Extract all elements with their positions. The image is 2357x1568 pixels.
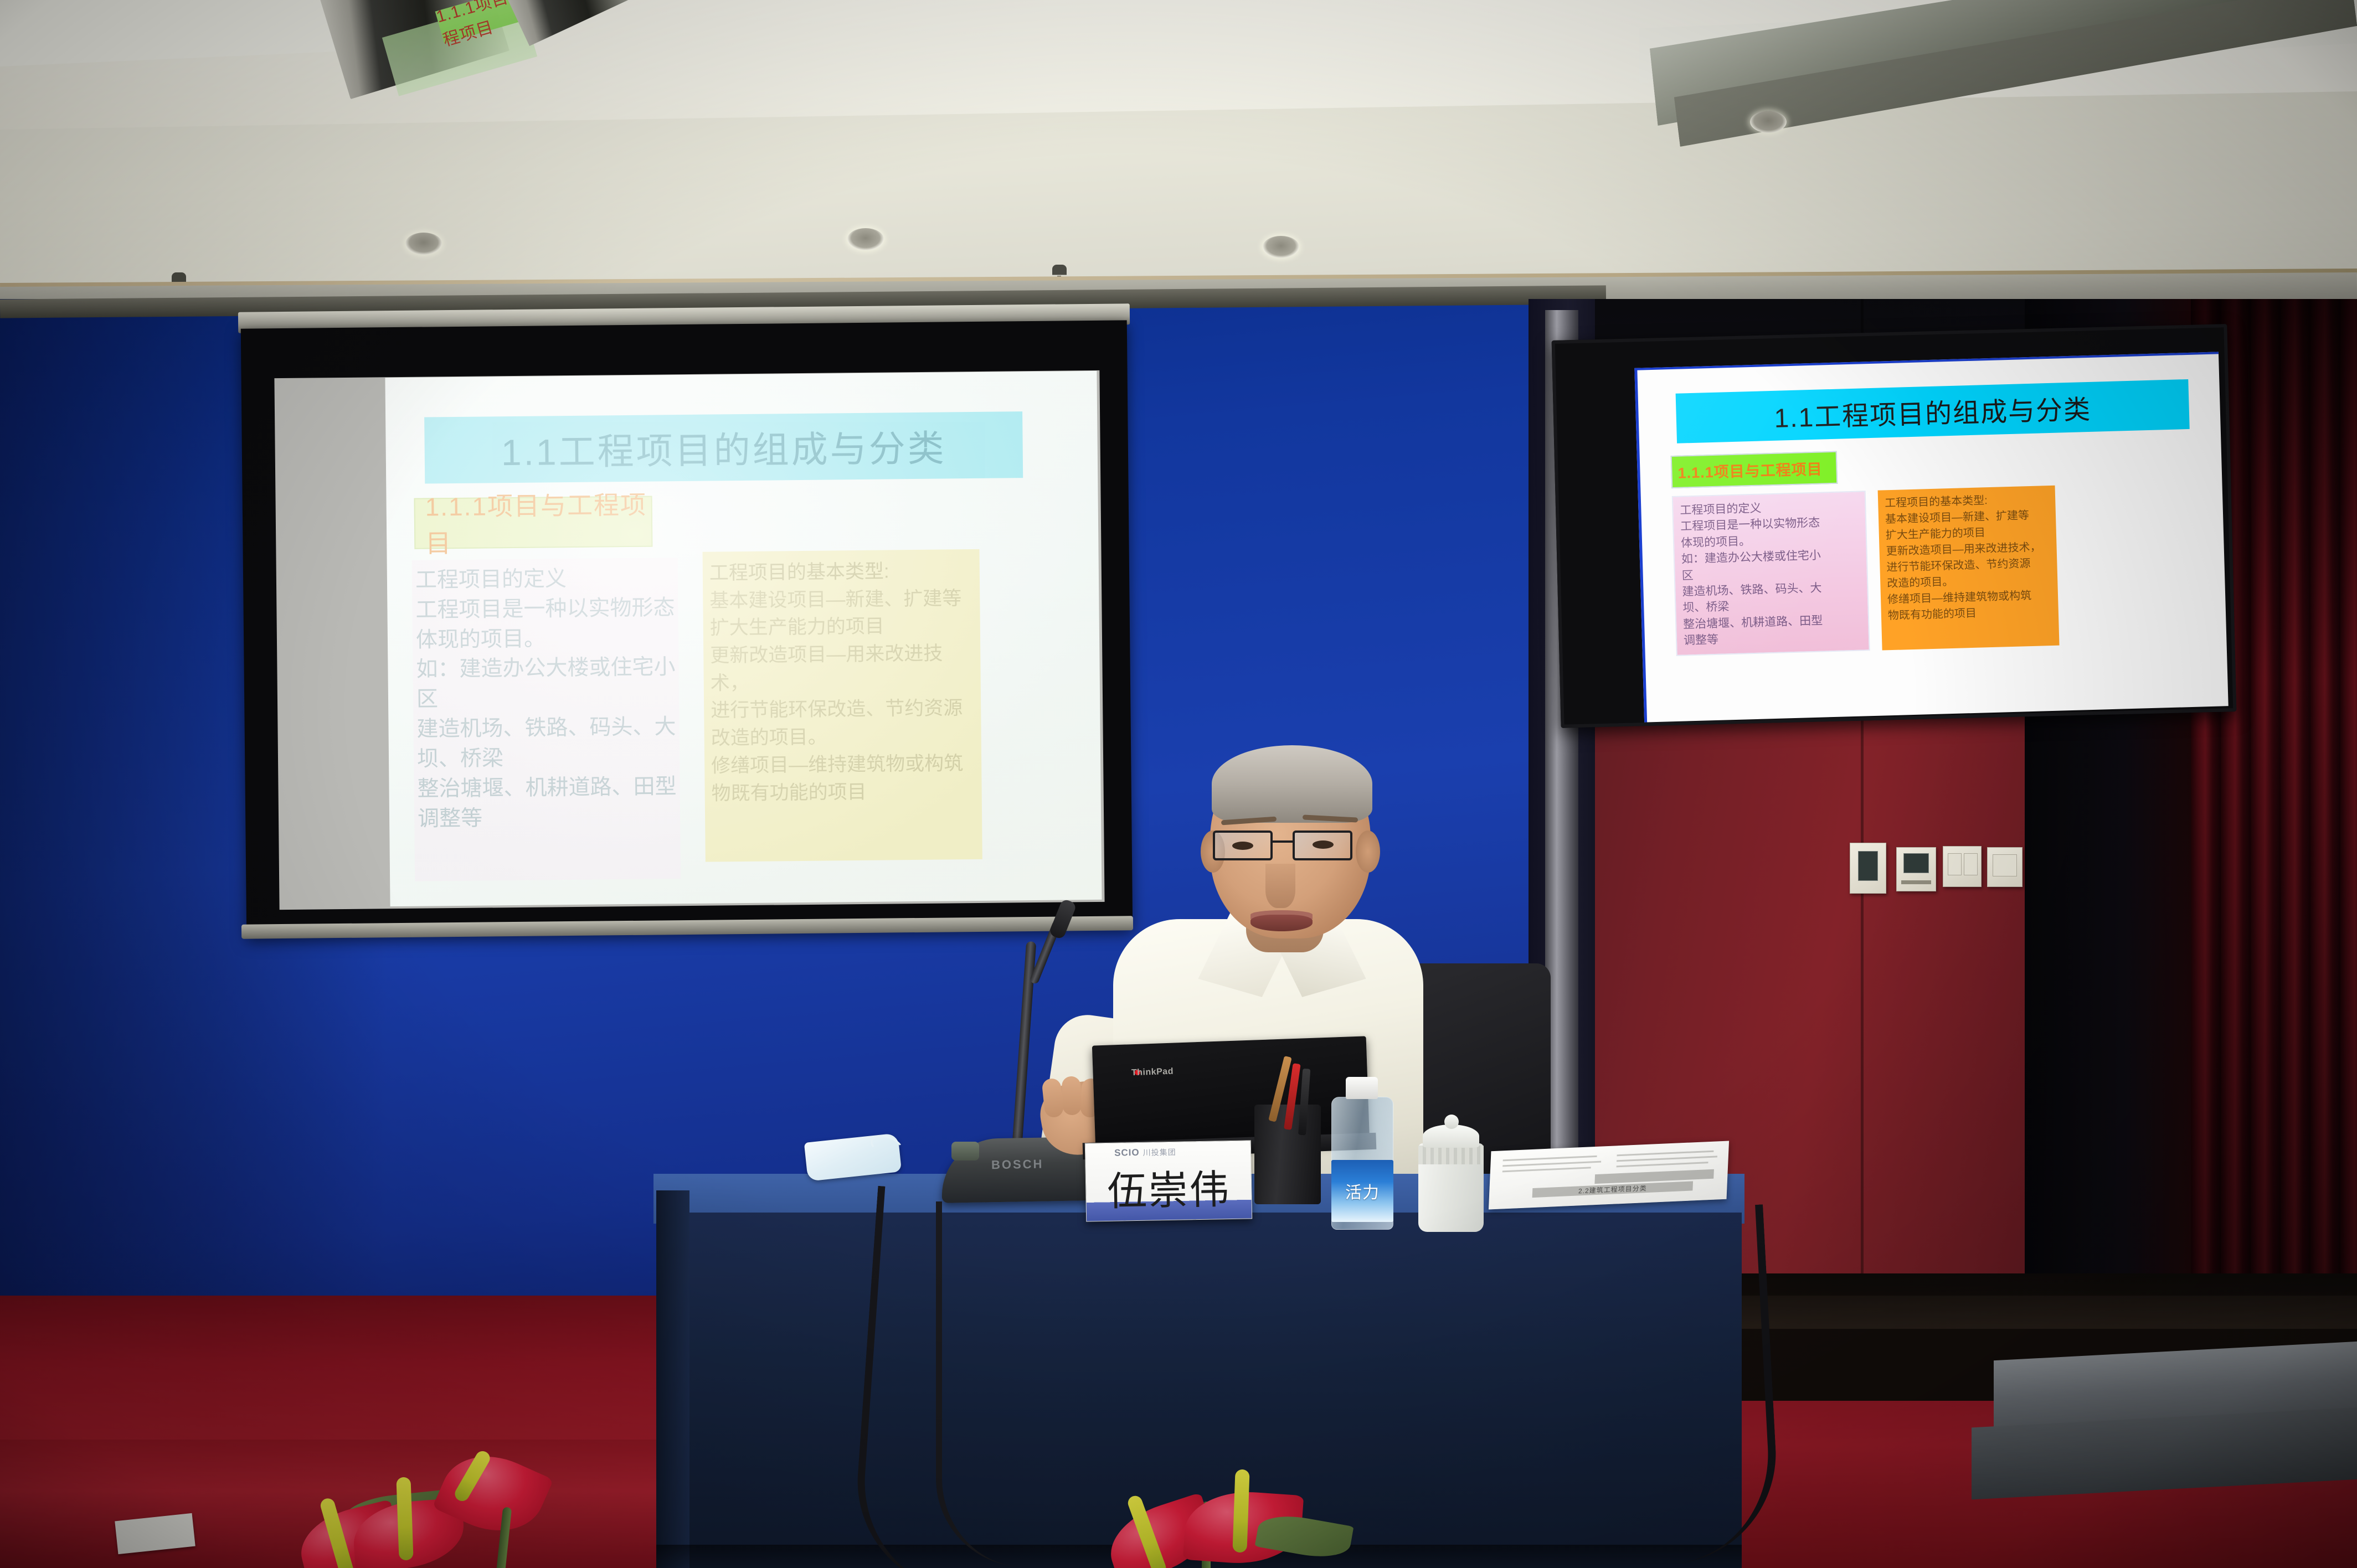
pj-r2: 扩大生产能力的项目 bbox=[710, 612, 974, 642]
pj-r3: 更新改造项目—用来改进技术， bbox=[710, 639, 974, 697]
pj-r6: 修缮项目—维持建筑物或构筑 bbox=[711, 750, 975, 780]
lcd-slide-content: 1.1工程项目的组成与分类 1.1.1项目与工程项目 工程项目的定义 工程项目是… bbox=[1637, 354, 2228, 722]
ac-panel-display bbox=[1903, 853, 1929, 873]
name-plate-name: 伍崇伟 bbox=[1085, 1156, 1252, 1217]
lecture-room-photo: 1.1.1项目与工程项目 1.1工程项目的组成与分类 1.1.1项目与工程项目 … bbox=[0, 0, 2357, 1568]
downlight-1 bbox=[405, 233, 442, 255]
handout-line-6 bbox=[1617, 1162, 1708, 1167]
water-bottle-label: 活力 bbox=[1331, 1160, 1393, 1222]
projected-slide-subtitle: 1.1.1项目与工程项目 bbox=[414, 496, 653, 549]
handout-highlight-bar bbox=[1594, 1169, 1714, 1184]
water-bottle-cap bbox=[1346, 1077, 1378, 1099]
microphone-brand-label: BOSCH bbox=[991, 1157, 1069, 1172]
presenter-nose bbox=[1265, 864, 1295, 908]
pj-r4: 进行节能环保改造、节约资源 bbox=[711, 694, 974, 724]
pj-r5: 改造的项目。 bbox=[711, 722, 974, 752]
lcd-slide-right-box: 工程项目的基本类型: 基本建设项目—新建、扩建等 扩大生产能力的项目 更新改造项… bbox=[1878, 486, 2060, 650]
tea-cup-pattern-band bbox=[1418, 1146, 1484, 1164]
pj-l6: 坝、桥梁 bbox=[417, 742, 676, 774]
pj-r0: 工程项目的基本类型: bbox=[709, 557, 973, 587]
downlight-4 bbox=[1750, 111, 1787, 133]
microphone-talk-button[interactable] bbox=[951, 1142, 979, 1160]
laptop-screen-lid bbox=[1092, 1036, 1370, 1151]
presenter-finger-2 bbox=[1062, 1076, 1082, 1115]
thinkpad-logo-text: ThinkPad bbox=[1131, 1067, 1172, 1080]
printed-handout: 2.2建筑工程项目分类 bbox=[1489, 1141, 1729, 1209]
presenter-mouth bbox=[1250, 915, 1313, 931]
handout-line-1 bbox=[1503, 1156, 1597, 1161]
lcd-slide-columns: 工程项目的定义 工程项目是一种以实物形态 体现的项目。 如：建造办公大楼或住宅小… bbox=[1672, 481, 2211, 656]
anthurium-flowers-left bbox=[233, 1424, 576, 1568]
light-switch-single[interactable] bbox=[1987, 847, 2023, 887]
pj-r1: 基本建设项目—新建、扩建等 bbox=[709, 585, 973, 615]
light-switch-double[interactable] bbox=[1943, 846, 1982, 887]
water-bottle: 活力 bbox=[1329, 1077, 1396, 1229]
presenter-eye-left bbox=[1232, 842, 1253, 850]
ac-control-panel[interactable] bbox=[1896, 847, 1936, 891]
handout-line-5 bbox=[1617, 1156, 1717, 1162]
projected-slide-right-box: 工程项目的基本类型: 基本建设项目—新建、扩建等 扩大生产能力的项目 更新改造项… bbox=[702, 549, 982, 862]
glasses-bridge bbox=[1273, 840, 1293, 843]
downlight-3 bbox=[1263, 236, 1299, 258]
handout-line-2 bbox=[1502, 1161, 1601, 1167]
lcd-slide-title: 1.1工程项目的组成与分类 bbox=[1676, 379, 2190, 443]
handout-caption-bar: 2.2建筑工程项目分类 bbox=[1532, 1181, 1693, 1198]
flower-spadix-5 bbox=[1232, 1469, 1249, 1553]
cable-left-2 bbox=[936, 1201, 1047, 1567]
handout-line-4 bbox=[1617, 1151, 1713, 1157]
light-switch-double-rocker-left[interactable] bbox=[1948, 853, 1962, 875]
pj-l3: 如：建造办公大楼或住宅小 bbox=[416, 653, 675, 685]
thermostat-display bbox=[1858, 851, 1878, 881]
tea-cup bbox=[1415, 1105, 1487, 1232]
tea-cup-lid-knob bbox=[1444, 1115, 1459, 1129]
projected-slide-left-box: 工程项目的定义 工程项目是一种以实物形态 体现的项目。 如：建造办公大楼或住宅小… bbox=[412, 558, 681, 881]
light-switch-double-rocker-right[interactable] bbox=[1964, 853, 1978, 875]
pj-l8: 调整等 bbox=[418, 802, 677, 834]
pj-l7: 整治塘堰、机耕道路、田型 bbox=[417, 772, 676, 804]
table-side-panel bbox=[656, 1190, 689, 1568]
anthurium-flowers-center bbox=[1074, 1441, 1373, 1568]
flower-spadix-2 bbox=[396, 1477, 413, 1561]
pj-l1: 工程项目是一种以实物形态 bbox=[415, 593, 675, 625]
projected-slide-title: 1.1工程项目的组成与分类 bbox=[424, 411, 1023, 483]
pj-l2: 体现的项目。 bbox=[416, 623, 675, 655]
name-plate: SCIO 川投集团 伍崇伟 bbox=[1085, 1140, 1252, 1221]
light-switch-single-rocker[interactable] bbox=[1993, 854, 2017, 876]
name-plate-brand-chinese: 川投集团 bbox=[1143, 1147, 1176, 1158]
projected-slide: 1.1工程项目的组成与分类 1.1.1项目与工程项目 工程项目的定义 工程项目是… bbox=[385, 371, 1102, 906]
thermostat-panel[interactable] bbox=[1850, 843, 1886, 894]
lcd-slide-subtitle: 1.1.1项目与工程项目 bbox=[1671, 451, 1838, 488]
pj-l4: 区 bbox=[416, 682, 676, 714]
pj-l5: 建造机场、铁路、码头、大 bbox=[416, 712, 676, 744]
handout-line-3 bbox=[1502, 1167, 1591, 1172]
name-plate-brand-latin: SCIO bbox=[1114, 1147, 1140, 1159]
presenter-eye-right bbox=[1313, 840, 1334, 849]
lcd-slide-left-box: 工程项目的定义 工程项目是一种以实物形态 体现的项目。 如：建造办公大楼或住宅小… bbox=[1672, 491, 1870, 656]
pj-l0: 工程项目的定义 bbox=[415, 563, 675, 595]
lcd-monitor-screen: 1.1工程项目的组成与分类 1.1.1项目与工程项目 工程项目的定义 工程项目是… bbox=[1634, 352, 2228, 722]
presenter-hair bbox=[1212, 745, 1372, 823]
downlight-2 bbox=[847, 228, 884, 250]
pj-r7: 物既有功能的项目 bbox=[711, 777, 975, 807]
ac-panel-slider[interactable] bbox=[1901, 880, 1931, 884]
